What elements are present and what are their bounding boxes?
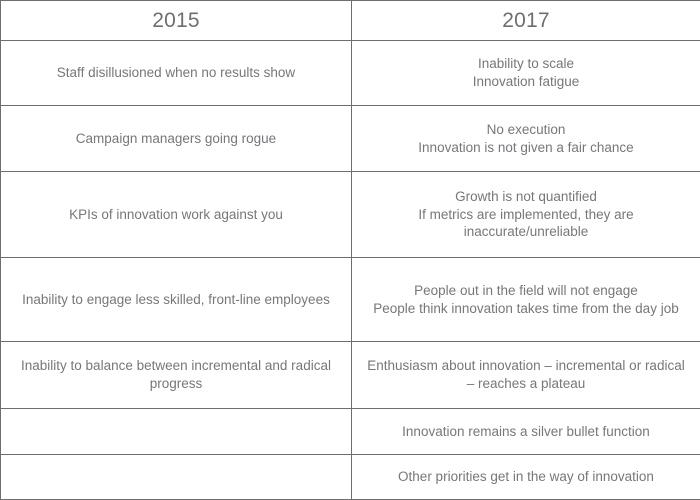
cell-2017: Inability to scale Innovation fatigue [352,41,700,106]
cell-2015-empty [1,409,352,455]
cell-text: KPIs of innovation work against you [11,206,341,224]
cell-2017: Growth is not quantified If metrics are … [352,172,700,258]
cell-text: Enthusiasm about innovation – incrementa… [362,357,690,392]
cell-2015: Inability to balance between incremental… [1,342,352,409]
comparison-table: 2015 2017 Staff disillusioned when no re… [0,0,700,500]
table-header: 2015 2017 [1,1,700,41]
cell-text: No execution Innovation is not given a f… [362,121,690,156]
column-header-2015: 2015 [1,1,352,41]
cell-text: Staff disillusioned when no results show [11,64,341,82]
table-row: Staff disillusioned when no results show… [1,41,700,106]
cell-2017: Innovation remains a silver bullet funct… [352,409,700,455]
cell-2017: Enthusiasm about innovation – incrementa… [352,342,700,409]
cell-2015: KPIs of innovation work against you [1,172,352,258]
cell-text: Inability to scale Innovation fatigue [362,55,690,90]
cell-2015-empty [1,455,352,500]
table-body: Staff disillusioned when no results show… [1,41,700,500]
cell-text: Other priorities get in the way of innov… [362,468,690,486]
cell-2015: Staff disillusioned when no results show [1,41,352,106]
table-row: Inability to engage less skilled, front-… [1,258,700,342]
table-row: Inability to balance between incremental… [1,342,700,409]
cell-text: Inability to balance between incremental… [11,357,341,392]
cell-2015: Campaign managers going rogue [1,106,352,172]
cell-2015: Inability to engage less skilled, front-… [1,258,352,342]
cell-text: People out in the field will not engage … [362,282,690,317]
cell-2017: Other priorities get in the way of innov… [352,455,700,500]
column-header-2017: 2017 [352,1,700,41]
table-row: Other priorities get in the way of innov… [1,455,700,500]
cell-text: Innovation remains a silver bullet funct… [362,423,690,441]
cell-2017: No execution Innovation is not given a f… [352,106,700,172]
table-row: KPIs of innovation work against you Grow… [1,172,700,258]
cell-text: Growth is not quantified If metrics are … [362,188,690,241]
cell-text: Campaign managers going rogue [11,130,341,148]
cell-2017: People out in the field will not engage … [352,258,700,342]
table-row: Campaign managers going rogue No executi… [1,106,700,172]
cell-text: Inability to engage less skilled, front-… [11,291,341,309]
table-row: Innovation remains a silver bullet funct… [1,409,700,455]
header-row: 2015 2017 [1,1,700,41]
